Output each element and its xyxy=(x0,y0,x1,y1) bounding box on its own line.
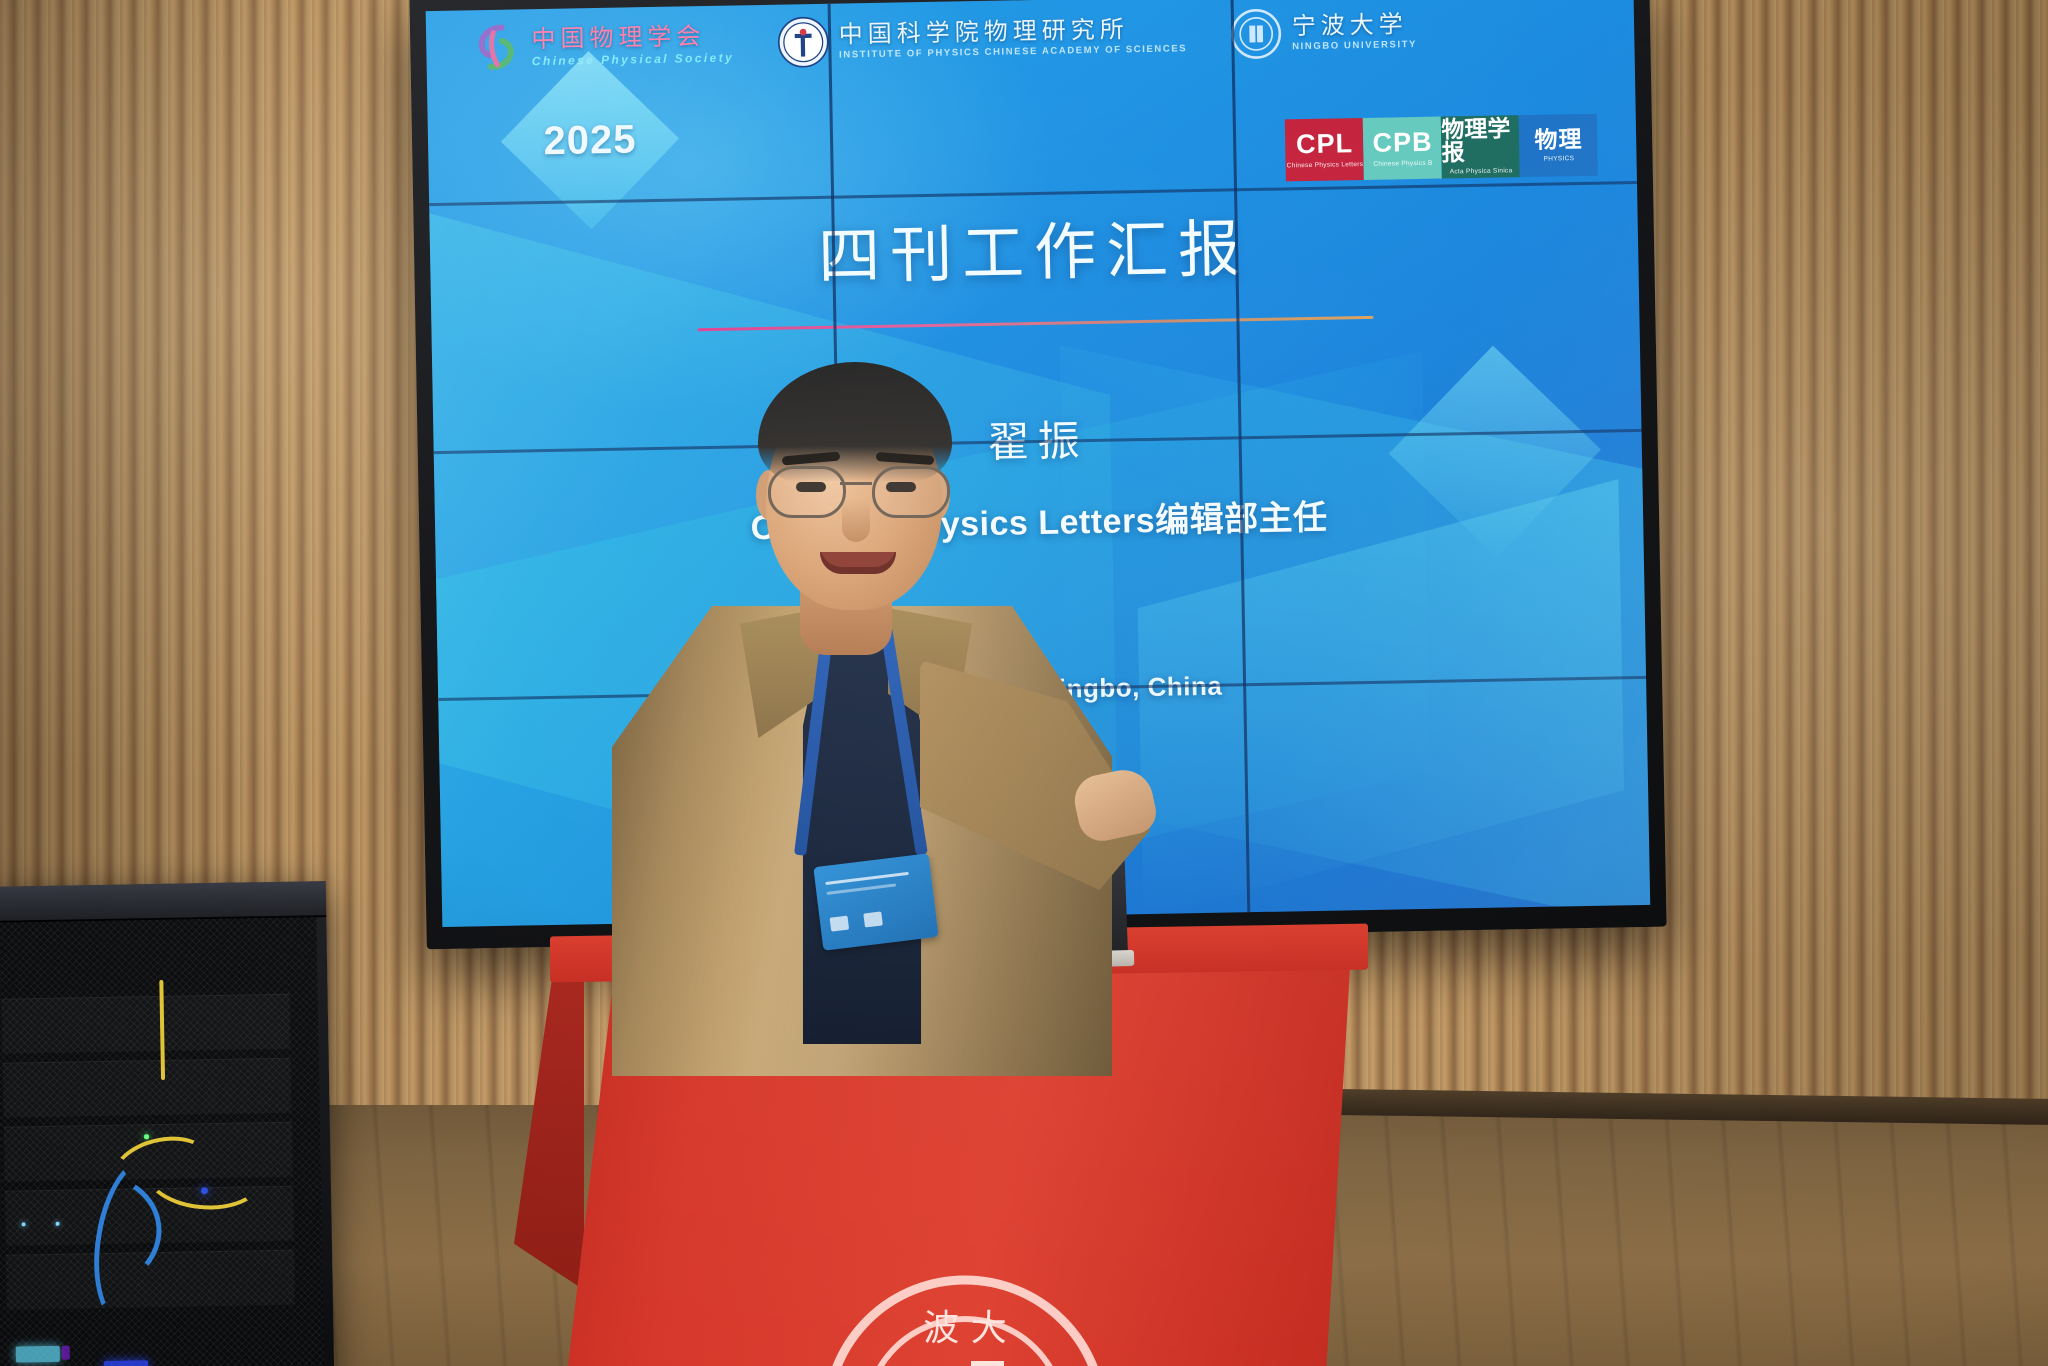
iop-cas-seal-icon xyxy=(775,15,830,70)
journal-logo-row: CPL Chinese Physics Letters CPB Chinese … xyxy=(1285,113,1598,181)
organizer-logo-cps-text: 中国物理学会 Chinese Physical Society xyxy=(531,23,734,67)
journal-cpl-full: Chinese Physics Letters xyxy=(1287,161,1364,169)
organizer-iop-cas-cn: 中国科学院物理研究所 xyxy=(839,16,1188,48)
organizer-cps-en: Chinese Physical Society xyxy=(532,51,735,67)
organizer-cps-cn: 中国物理学会 xyxy=(531,23,734,52)
ningbo-university-seal-icon xyxy=(1228,6,1283,61)
conference-badge xyxy=(813,853,938,951)
organizer-ningbo-en: NINGBO UNIVERSITY xyxy=(1292,40,1417,52)
journal-logo-acta-physica-sinica: 物理学报 Acta Physica Sinica xyxy=(1441,115,1520,178)
eyeglass-bridge xyxy=(840,482,872,485)
eyeglass-lens-left xyxy=(768,466,846,518)
journal-logo-cpl: CPL Chinese Physics Letters xyxy=(1285,118,1364,181)
organizer-ningbo-cn: 宁波大学 xyxy=(1292,12,1417,39)
speaker xyxy=(520,330,1180,1050)
organizer-logo-iop-cas: 中国科学院物理研究所 INSTITUTE OF PHYSICS CHINESE … xyxy=(775,8,1187,70)
year-badge-label: 2025 xyxy=(543,116,637,163)
organizer-logo-iop-cas-text: 中国科学院物理研究所 INSTITUTE OF PHYSICS CHINESE … xyxy=(839,16,1188,61)
eyeglass-lens-right xyxy=(872,466,950,518)
speaker-nose xyxy=(842,498,870,542)
journal-aps-full: Acta Physica Sinica xyxy=(1450,167,1513,175)
rack-top-cap xyxy=(0,881,326,923)
journal-logo-cpb: CPB Chinese Physics B xyxy=(1363,116,1442,179)
ningbo-university-seal-icon: 波 大 xyxy=(815,1268,1115,1366)
journal-logo-wuli: 物理 PHYSICS xyxy=(1519,113,1598,176)
journal-wuli-full: PHYSICS xyxy=(1543,155,1574,163)
cps-logo-icon xyxy=(468,20,523,75)
journal-cpb-full: Chinese Physics B xyxy=(1373,159,1432,167)
organizer-logo-ningbo-university: 宁波大学 NINGBO UNIVERSITY xyxy=(1228,4,1417,61)
journal-aps-abbr: 物理学报 xyxy=(1441,117,1520,164)
server-rack xyxy=(0,881,334,1366)
presentation-photo-scene: 中国物理学会 Chinese Physical Society 中国科学院物理研… xyxy=(0,0,2048,1366)
organizer-logo-ningbo-university-text: 宁波大学 NINGBO UNIVERSITY xyxy=(1292,12,1418,52)
rack-mesh-door xyxy=(0,917,324,1366)
svg-text:波 大: 波 大 xyxy=(923,1308,1006,1349)
speaker-mouth xyxy=(820,552,896,574)
journal-cpl-abbr: CPL xyxy=(1296,130,1353,158)
journal-cpb-abbr: CPB xyxy=(1372,128,1433,156)
journal-wuli-abbr: 物理 xyxy=(1534,128,1582,152)
